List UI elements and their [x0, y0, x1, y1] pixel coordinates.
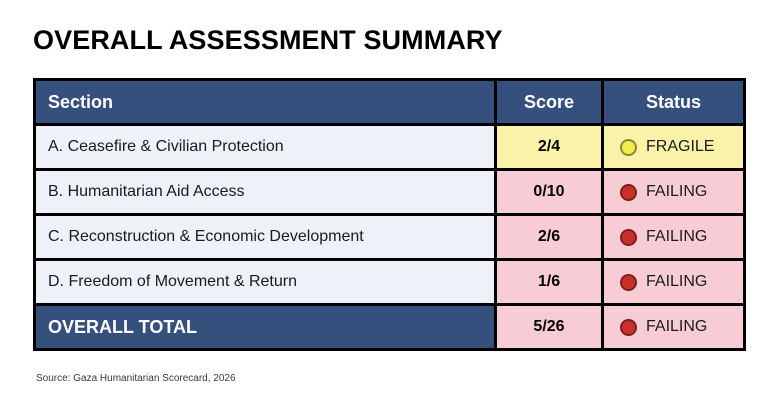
table-header: Section Score Status	[35, 80, 745, 125]
circle-red-icon	[620, 229, 637, 246]
table-row: C. Reconstruction & Economic Development…	[35, 215, 745, 260]
cell-score: 2/4	[496, 125, 603, 170]
assessment-summary-table: Section Score Status A. Ceasefire & Civi…	[33, 78, 746, 351]
status-badge: FAILING	[620, 183, 743, 201]
page-title: OVERALL ASSESSMENT SUMMARY	[33, 25, 503, 56]
column-header-score: Score	[496, 80, 603, 125]
cell-status: FAILING	[603, 260, 745, 305]
table-row: D. Freedom of Movement & Return 1/6 FAIL…	[35, 260, 745, 305]
column-header-section: Section	[35, 80, 496, 125]
table-row: B. Humanitarian Aid Access 0/10 FAILING	[35, 170, 745, 215]
cell-status-total: FAILING	[603, 305, 745, 350]
cell-section: A. Ceasefire & Civilian Protection	[35, 125, 496, 170]
cell-status: FAILING	[603, 215, 745, 260]
table-header-row: Section Score Status	[35, 80, 745, 125]
status-label: FAILING	[646, 273, 707, 291]
cell-status: FRAGILE	[603, 125, 745, 170]
status-label: FRAGILE	[646, 138, 714, 156]
cell-score-total: 5/26	[496, 305, 603, 350]
circle-yellow-icon	[620, 139, 637, 156]
cell-status: FAILING	[603, 170, 745, 215]
status-badge: FAILING	[620, 273, 743, 291]
status-label: FAILING	[646, 183, 707, 201]
circle-red-icon	[620, 274, 637, 291]
cell-score: 1/6	[496, 260, 603, 305]
status-badge: FRAGILE	[620, 138, 743, 156]
assessment-summary-page: OVERALL ASSESSMENT SUMMARY Section Score…	[0, 0, 780, 411]
circle-red-icon	[620, 184, 637, 201]
status-badge: FAILING	[620, 318, 743, 336]
cell-section: B. Humanitarian Aid Access	[35, 170, 496, 215]
cell-section-total: OVERALL TOTAL	[35, 305, 496, 350]
cell-section: C. Reconstruction & Economic Development	[35, 215, 496, 260]
cell-score: 0/10	[496, 170, 603, 215]
source-note: Source: Gaza Humanitarian Scorecard, 202…	[36, 373, 236, 384]
status-label: FAILING	[646, 228, 707, 246]
cell-section: D. Freedom of Movement & Return	[35, 260, 496, 305]
status-badge: FAILING	[620, 228, 743, 246]
status-label: FAILING	[646, 318, 707, 336]
table-body: A. Ceasefire & Civilian Protection 2/4 F…	[35, 125, 745, 350]
cell-score: 2/6	[496, 215, 603, 260]
circle-red-icon	[620, 319, 637, 336]
table-row: A. Ceasefire & Civilian Protection 2/4 F…	[35, 125, 745, 170]
table-total-row: OVERALL TOTAL 5/26 FAILING	[35, 305, 745, 350]
column-header-status: Status	[603, 80, 745, 125]
